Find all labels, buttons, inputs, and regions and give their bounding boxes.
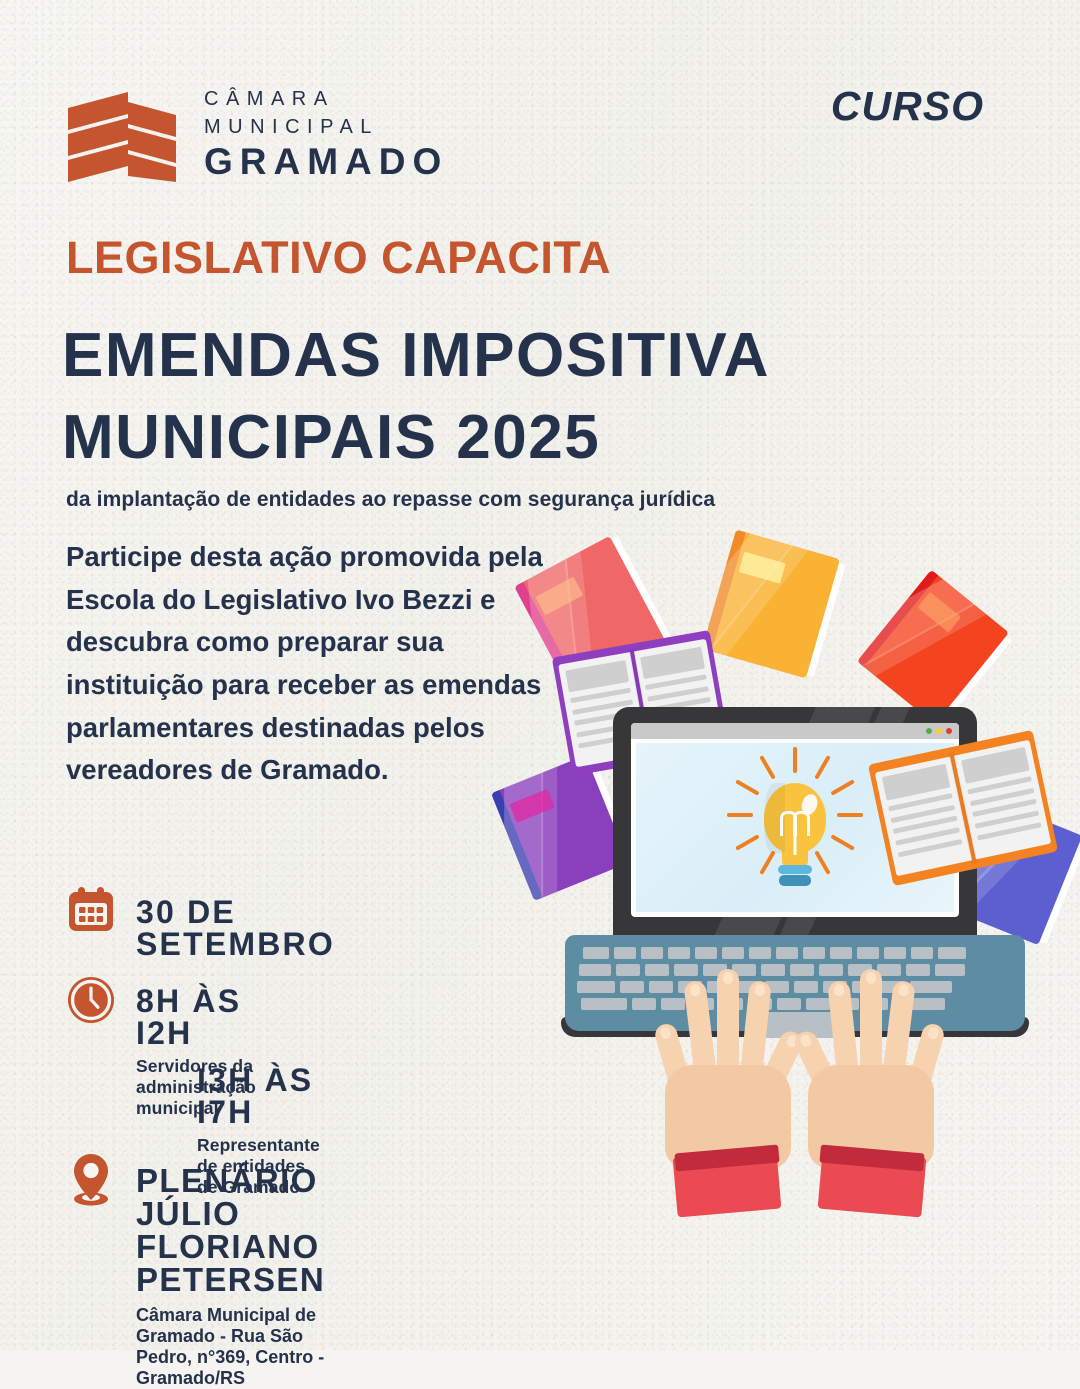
map-pin-icon (66, 1152, 116, 1215)
page-title: EMENDAS IMPOSITIVA MUNICIPAIS 2025 (62, 315, 962, 479)
brand-header: CÂMARA MUNICIPAL GRAMADO (66, 86, 448, 182)
program-kicker: LEGISLATIVO CAPACITA (66, 232, 611, 284)
calendar-icon (66, 884, 116, 939)
time-slot-1: 8H ÀS I2H (136, 975, 256, 1049)
detail-row-place: PLENÁRIO JÚLIO FLORIANO PETERSEN Câmara … (66, 1152, 325, 1389)
browser-title-bar (631, 723, 959, 739)
detail-row-date: 30 DE SETEMBRO (66, 884, 335, 960)
browser-dot-red (946, 728, 952, 734)
logo-line-municipal: MUNICIPAL (204, 114, 448, 142)
right-hand (793, 937, 943, 1197)
left-hand (657, 937, 807, 1197)
clock-icon (66, 975, 116, 1030)
browser-dot-yellow (936, 728, 942, 734)
browser-window-dots (926, 728, 952, 734)
event-date: 30 DE SETEMBRO (136, 884, 335, 960)
venue-address: Câmara Municipal de Gramado - Rua São Pe… (136, 1305, 325, 1389)
page-subtitle: da implantação de entidades ao repasse c… (66, 488, 715, 512)
logo-wordmark: CÂMARA MUNICIPAL GRAMADO (204, 86, 448, 181)
logo-line-gramado: GRAMADO (204, 143, 448, 182)
page-title-line2: MUNICIPAIS 2025 (62, 397, 962, 479)
venue-name: PLENÁRIO JÚLIO FLORIANO PETERSEN (136, 1152, 325, 1296)
time-slot-2: I3H ÀS I7H (197, 1064, 320, 1128)
camara-gramado-logo-icon (66, 86, 178, 182)
poster-canvas: CÂMARA MUNICIPAL GRAMADO CURSO LEGISLATI… (0, 0, 1080, 1350)
logo-line-camara: CÂMARA (204, 86, 448, 114)
lead-paragraph: Participe desta ação promovida pela Esco… (66, 536, 546, 792)
lightbulb-idea-icon (720, 753, 870, 903)
page-title-line1: EMENDAS IMPOSITIVA (62, 321, 770, 390)
closed-book-yellow-icon (702, 530, 840, 679)
curso-badge: CURSO (831, 83, 984, 130)
laptop-illustration (505, 540, 1080, 1160)
browser-dot-green (926, 728, 932, 734)
closed-book-red-icon (857, 570, 1009, 725)
